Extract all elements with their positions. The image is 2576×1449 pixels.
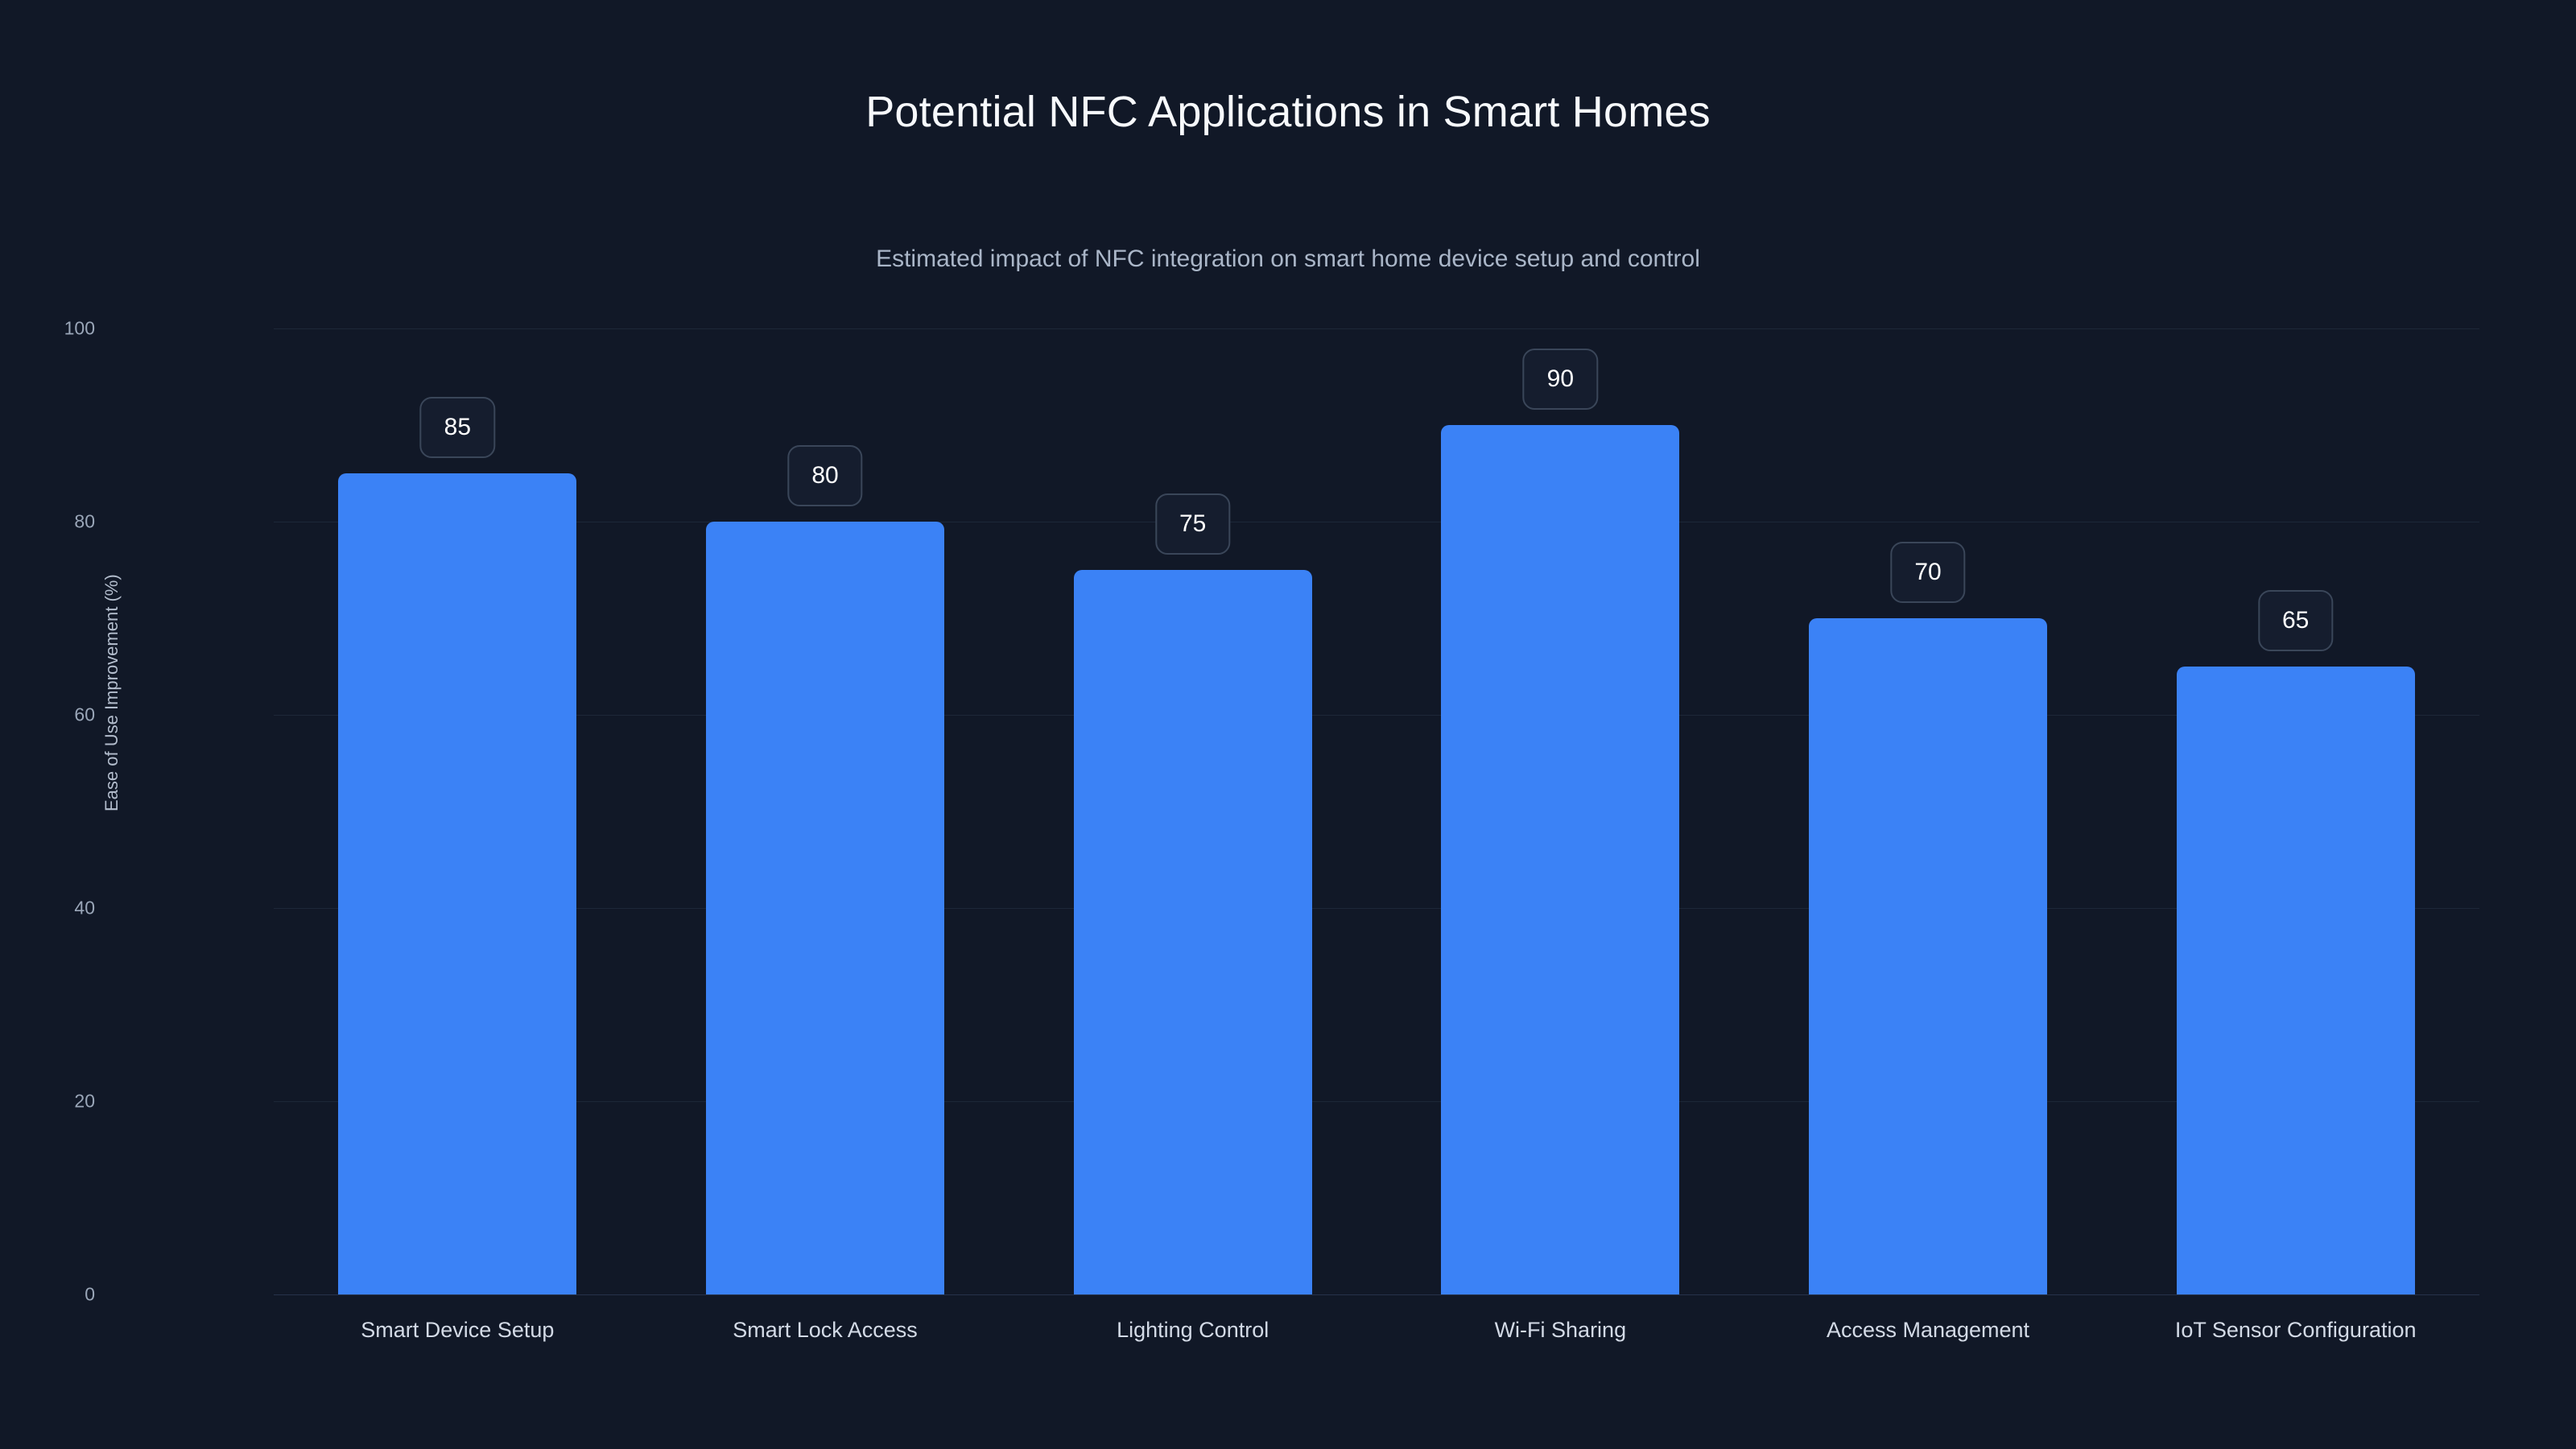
x-axis-tick-label: Lighting Control — [1117, 1318, 1269, 1343]
x-axis-tick-label: Access Management — [1827, 1318, 2029, 1343]
x-axis-tick-label: Smart Device Setup — [361, 1318, 554, 1343]
gridline — [274, 1294, 2479, 1295]
bar[interactable] — [338, 473, 576, 1294]
bar[interactable] — [2177, 667, 2415, 1294]
bar-chart-figure: Potential NFC Applications in Smart Home… — [0, 0, 2576, 1449]
gridline — [274, 1101, 2479, 1102]
y-axis-tick-label: 60 — [0, 704, 95, 726]
bar[interactable] — [1441, 425, 1679, 1294]
gridline — [274, 522, 2479, 522]
gridline — [274, 715, 2479, 716]
bar-value-badge: 80 — [787, 445, 862, 506]
bar[interactable] — [1074, 570, 1312, 1294]
x-axis-tick-label: Smart Lock Access — [733, 1318, 918, 1343]
bar-value-badge: 65 — [2258, 590, 2333, 651]
x-axis-tick-label: Wi-Fi Sharing — [1495, 1318, 1627, 1343]
gridline — [274, 908, 2479, 909]
bar-value-badge: 85 — [420, 397, 495, 458]
y-axis-tick-label: 0 — [0, 1284, 95, 1306]
y-axis-tick-label: 40 — [0, 898, 95, 919]
plot-area — [274, 328, 2479, 1294]
y-axis-tick-label: 100 — [0, 318, 95, 340]
y-axis-title: Ease of Use Improvement (%) — [101, 574, 122, 811]
y-axis-tick-label: 20 — [0, 1091, 95, 1113]
gridline — [274, 328, 2479, 329]
chart-subtitle: Estimated impact of NFC integration on s… — [0, 246, 2576, 273]
y-axis-tick-label: 80 — [0, 511, 95, 533]
page-title: Potential NFC Applications in Smart Home… — [0, 87, 2576, 137]
bar[interactable] — [1809, 618, 2047, 1294]
bar-value-badge: 90 — [1523, 349, 1598, 410]
bar-value-badge: 75 — [1155, 493, 1230, 555]
x-axis-tick-label: IoT Sensor Configuration — [2175, 1318, 2417, 1343]
bar[interactable] — [706, 522, 944, 1294]
bar-value-badge: 70 — [1890, 542, 1965, 603]
